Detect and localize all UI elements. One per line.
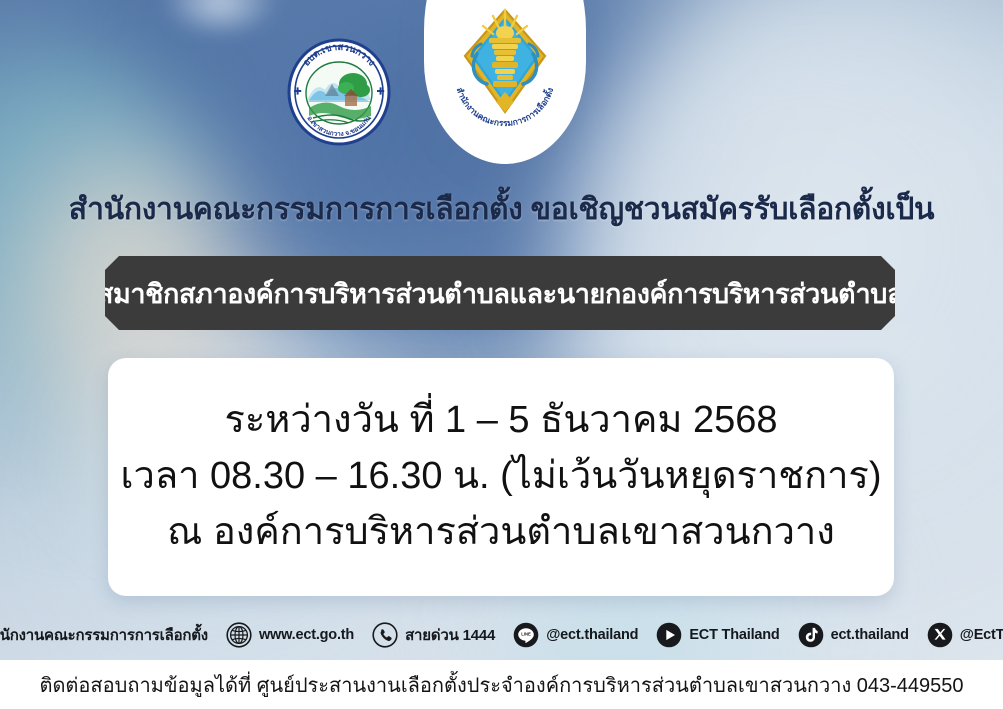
youtube-icon [656,622,682,648]
detail-line-time: เวลา 08.30 – 16.30 น. (ไม่เว้นวันหยุดราช… [121,451,882,503]
social-item-website[interactable]: www.ect.go.th [217,622,363,648]
position-banner: สมาชิกสภาองค์การบริหารส่วนตำบลและนายกองค… [105,256,895,330]
election-commission-of-thailand-seal-icon: สำนักงานคณะกรรมการการเลือกตั้ง [441,4,569,152]
position-banner-text: สมาชิกสภาองค์การบริหารส่วนตำบลและนายกองค… [97,272,903,315]
social-item-tiktok[interactable]: ect.thailand [789,622,918,648]
social-item-youtube[interactable]: ECT Thailand [647,622,788,648]
svg-text:LINE: LINE [521,631,531,636]
social-label-line: @ect.thailand [546,627,638,643]
contact-caption-text: ติดต่อสอบถามข้อมูลได้ที่ ศูนย์ประสานงานเ… [39,669,963,701]
social-label-website: www.ect.go.th [259,627,354,643]
social-item-line[interactable]: LINE @ect.thailand [504,622,647,648]
social-item-hotline[interactable]: สายด่วน 1444 [363,622,504,648]
social-label-facebook: สำนักงานคณะกรรมการการเลือกตั้ง [0,623,208,647]
detail-line-date: ระหว่างวัน ที่ 1 – 5 ธันวาคม 2568 [224,395,777,447]
line-icon: LINE [513,622,539,648]
tiktok-icon [798,622,824,648]
detail-line-venue: ณ องค์การบริหารส่วนตำบลเขาสวนกวาง [167,507,835,559]
contact-caption-strip: ติดต่อสอบถามข้อมูลได้ที่ ศูนย์ประสานงานเ… [0,660,1003,709]
social-label-hotline: สายด่วน 1444 [405,623,495,647]
social-contact-bar: สำนักงานคณะกรรมการการเลือกตั้ง www.ect.g… [0,616,1003,654]
x-twitter-icon [927,622,953,648]
social-label-tiktok: ect.thailand [831,627,909,643]
phone-icon [372,622,398,648]
social-label-youtube: ECT Thailand [689,627,779,643]
local-administrative-organization-seal-icon: อบต.เขาสวนกวาง อ.เขาสวนกวาง จ.ขอนแก่น [285,38,393,146]
page-title: สำนักงานคณะกรรมการการเลือกตั้ง ขอเชิญชวน… [0,186,1003,233]
social-item-x-twitter[interactable]: @EctThailand [918,622,1003,648]
poster-canvas: อบต.เขาสวนกวาง อ.เขาสวนกวาง จ.ขอนแก่น [0,0,1003,709]
details-card: ระหว่างวัน ที่ 1 – 5 ธันวาคม 2568 เวลา 0… [108,358,894,596]
social-item-facebook[interactable]: สำนักงานคณะกรรมการการเลือกตั้ง [0,622,217,648]
globe-icon [226,622,252,648]
social-label-x-twitter: @EctThailand [960,627,1003,643]
